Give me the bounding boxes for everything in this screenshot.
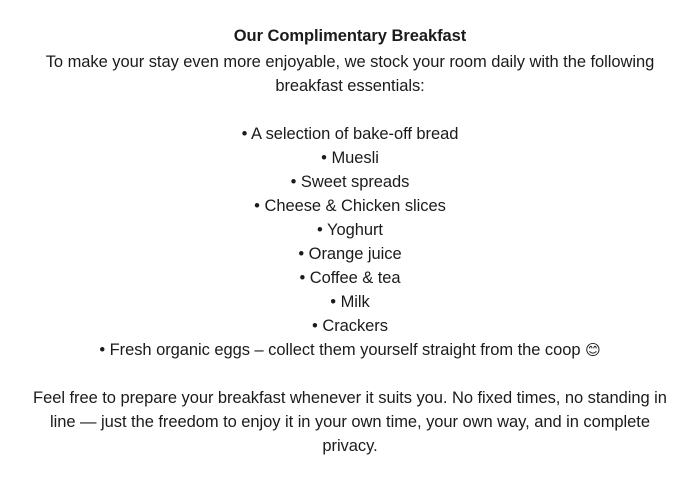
list-item: • Yoghurt [20, 218, 680, 242]
list-item-label: Muesli [331, 149, 378, 167]
list-item-label: Orange juice [309, 245, 402, 263]
spacer-before-list [20, 98, 680, 122]
bullet-icon: • [291, 173, 297, 191]
smiling-face-icon: 😊 [585, 341, 601, 359]
list-item: • Crackers [20, 314, 680, 338]
list-item: • A selection of bake-off bread [20, 122, 680, 146]
breakfast-information-page: Our Complimentary Breakfast To make your… [0, 0, 700, 500]
list-item: • Fresh organic eggs – collect them your… [20, 338, 680, 362]
breakfast-essentials-list: • A selection of bake-off bread • Muesli… [20, 122, 680, 362]
list-item-label: Milk [341, 293, 370, 311]
page-title: Our Complimentary Breakfast [20, 24, 680, 48]
list-item-label: Crackers [322, 317, 388, 335]
spacer-after-list [20, 362, 680, 386]
bullet-icon: • [317, 221, 323, 239]
bullet-icon: • [299, 269, 305, 287]
bullet-icon: • [330, 293, 336, 311]
bullet-icon: • [312, 317, 318, 335]
intro-paragraph: To make your stay even more enjoyable, w… [40, 50, 660, 98]
list-item: • Cheese & Chicken slices [20, 194, 680, 218]
list-item-label: Fresh organic eggs – collect them yourse… [110, 341, 581, 359]
bullet-icon: • [254, 197, 260, 215]
list-item: • Sweet spreads [20, 170, 680, 194]
bullet-icon: • [321, 149, 327, 167]
list-item: • Coffee & tea [20, 266, 680, 290]
list-item-label: Yoghurt [327, 221, 383, 239]
list-item-label: Cheese & Chicken slices [264, 197, 445, 215]
bullet-icon: • [242, 125, 248, 143]
bullet-icon: • [298, 245, 304, 263]
list-item-label: Sweet spreads [301, 173, 410, 191]
list-item: • Orange juice [20, 242, 680, 266]
list-item: • Milk [20, 290, 680, 314]
list-item: • Muesli [20, 146, 680, 170]
bullet-icon: • [99, 341, 105, 359]
outro-paragraph: Feel free to prepare your breakfast when… [25, 386, 675, 458]
list-item-label: A selection of bake-off bread [251, 125, 458, 143]
list-item-label: Coffee & tea [310, 269, 401, 287]
